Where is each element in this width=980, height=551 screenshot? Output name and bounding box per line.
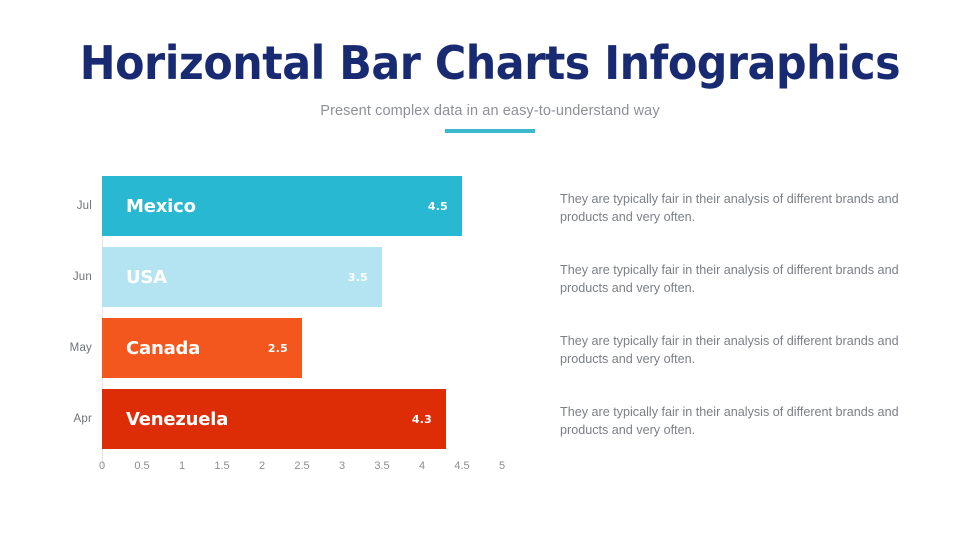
page-subtitle: Present complex data in an easy-to-under… <box>0 89 980 119</box>
description-item: They are typically fair in their analysi… <box>560 261 900 298</box>
horizontal-bar-chart: Jul Mexico 4.5 Jun USA 3.5 May Canada 2.… <box>0 160 540 500</box>
y-tick-label-jun: Jun <box>0 247 92 307</box>
x-tick-label: 2 <box>242 460 282 472</box>
bar-usa[interactable]: USA 3.5 <box>102 247 382 307</box>
description-item: They are typically fair in their analysi… <box>560 190 900 227</box>
bar-value-mexico: 4.5 <box>428 200 448 213</box>
accent-rule-divider <box>445 129 535 133</box>
x-tick-label: 4.5 <box>442 460 482 472</box>
bar-mexico[interactable]: Mexico 4.5 <box>102 176 462 236</box>
description-item: They are typically fair in their analysi… <box>560 403 900 440</box>
x-tick-label: 2.5 <box>282 460 322 472</box>
bar-value-canada: 2.5 <box>268 342 288 355</box>
x-tick-label: 0.5 <box>122 460 162 472</box>
bar-label-canada: Canada <box>126 338 200 359</box>
x-tick-label: 0 <box>82 460 122 472</box>
x-tick-label: 3 <box>322 460 362 472</box>
y-tick-label-jul: Jul <box>0 176 92 236</box>
x-tick-label: 1.5 <box>202 460 242 472</box>
bar-row: Jun USA 3.5 <box>0 247 540 307</box>
bar-row: Apr Venezuela 4.3 <box>0 389 540 449</box>
bar-label-venezuela: Venezuela <box>126 409 228 430</box>
bar-label-mexico: Mexico <box>126 196 196 217</box>
bar-canada[interactable]: Canada 2.5 <box>102 318 302 378</box>
description-column: They are typically fair in their analysi… <box>560 160 910 500</box>
bar-label-usa: USA <box>126 267 167 288</box>
x-tick-label: 3.5 <box>362 460 402 472</box>
header: Horizontal Bar Charts Infographics Prese… <box>0 0 980 119</box>
y-tick-label-apr: Apr <box>0 389 92 449</box>
bar-row: Jul Mexico 4.5 <box>0 176 540 236</box>
bar-row: May Canada 2.5 <box>0 318 540 378</box>
x-tick-label: 5 <box>482 460 522 472</box>
bar-value-venezuela: 4.3 <box>412 413 432 426</box>
description-item: They are typically fair in their analysi… <box>560 332 900 369</box>
x-axis: 0 0.5 1 1.5 2 2.5 3 3.5 4 4.5 5 <box>0 460 540 484</box>
x-tick-label: 4 <box>402 460 442 472</box>
page-title: Horizontal Bar Charts Infographics <box>34 0 945 89</box>
y-tick-label-may: May <box>0 318 92 378</box>
bar-venezuela[interactable]: Venezuela 4.3 <box>102 389 446 449</box>
x-tick-label: 1 <box>162 460 202 472</box>
bar-value-usa: 3.5 <box>348 271 368 284</box>
